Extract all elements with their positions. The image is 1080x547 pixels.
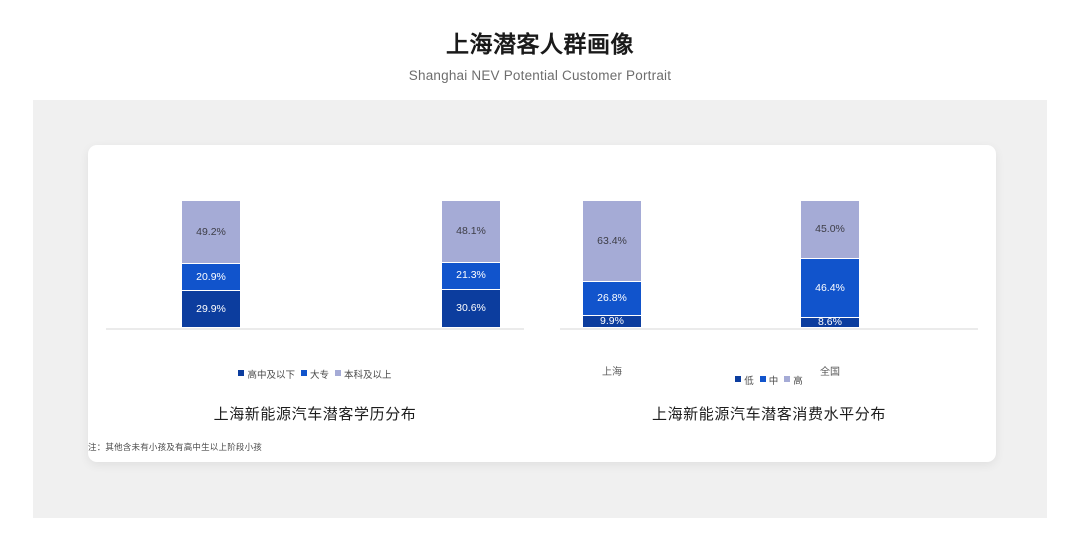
bar-segment: 26.8% (582, 281, 642, 315)
legend-item[interactable]: 低 (735, 373, 754, 387)
page-header: 上海潜客人群画像 Shanghai NEV Potential Customer… (0, 0, 1080, 83)
page-title: 上海潜客人群画像 (0, 0, 1080, 59)
page-subtitle: Shanghai NEV Potential Customer Portrait (0, 59, 1080, 83)
legend-swatch-icon (335, 370, 341, 376)
bar-segment: 21.3% (441, 262, 501, 289)
stacked-bar: 45.0%46.4%8.6% (800, 200, 860, 328)
legend-item[interactable]: 高 (784, 373, 803, 387)
caption-consumption: 上海新能源汽车潜客消费水平分布 (542, 403, 996, 424)
stacked-bar: 63.4%26.8%9.9% (582, 200, 642, 328)
plot-area-education: 49.2%20.9%29.9%48.1%21.3%30.6% (106, 175, 524, 330)
chart-card: 49.2%20.9%29.9%48.1%21.3%30.6% 高中及以下大专本科… (88, 145, 996, 462)
bar-segment: 30.6% (441, 289, 501, 328)
charts-row: 49.2%20.9%29.9%48.1%21.3%30.6% 高中及以下大专本科… (88, 145, 996, 462)
axis-line (106, 328, 524, 330)
footnote: 注：其他含未有小孩及有高中生以上阶段小孩 (88, 441, 262, 453)
legend-consumption: 低中高 (542, 373, 996, 387)
legend-label: 本科及以上 (344, 370, 392, 381)
legend-item[interactable]: 中 (760, 373, 779, 387)
legend-education: 高中及以下大专本科及以上 (88, 367, 542, 381)
plot-area-consumption: 63.4%26.8%9.9%45.0%46.4%8.6% 上海全国 (560, 175, 978, 330)
bar-segment: 9.9% (582, 315, 642, 328)
chart-consumption: 63.4%26.8%9.9%45.0%46.4%8.6% 上海全国 低中高 上海… (542, 145, 996, 462)
legend-label: 大专 (310, 370, 329, 381)
legend-label: 高 (793, 376, 803, 387)
bar-segment: 20.9% (181, 263, 241, 290)
content-panel: 49.2%20.9%29.9%48.1%21.3%30.6% 高中及以下大专本科… (33, 100, 1047, 518)
legend-label: 中 (769, 376, 779, 387)
bar-segment: 63.4% (582, 200, 642, 281)
legend-swatch-icon (301, 370, 307, 376)
bar-segment: 46.4% (800, 258, 860, 317)
stacked-bar: 49.2%20.9%29.9% (181, 200, 241, 328)
bar-segment: 45.0% (800, 200, 860, 258)
legend-swatch-icon (784, 376, 790, 382)
legend-item[interactable]: 高中及以下 (238, 367, 295, 381)
legend-label: 低 (744, 376, 754, 387)
legend-swatch-icon (735, 376, 741, 382)
bar-segment: 48.1% (441, 200, 501, 262)
stacked-bar: 48.1%21.3%30.6% (441, 200, 501, 328)
bar-segment: 8.6% (800, 317, 860, 328)
caption-education: 上海新能源汽车潜客学历分布 (88, 403, 542, 424)
legend-swatch-icon (238, 370, 244, 376)
legend-swatch-icon (760, 376, 766, 382)
legend-item[interactable]: 本科及以上 (335, 367, 392, 381)
axis-line (560, 328, 978, 330)
bar-segment: 49.2% (181, 200, 241, 263)
chart-education: 49.2%20.9%29.9%48.1%21.3%30.6% 高中及以下大专本科… (88, 145, 542, 462)
bar-segment: 29.9% (181, 290, 241, 328)
legend-item[interactable]: 大专 (301, 367, 329, 381)
legend-label: 高中及以下 (247, 370, 295, 381)
